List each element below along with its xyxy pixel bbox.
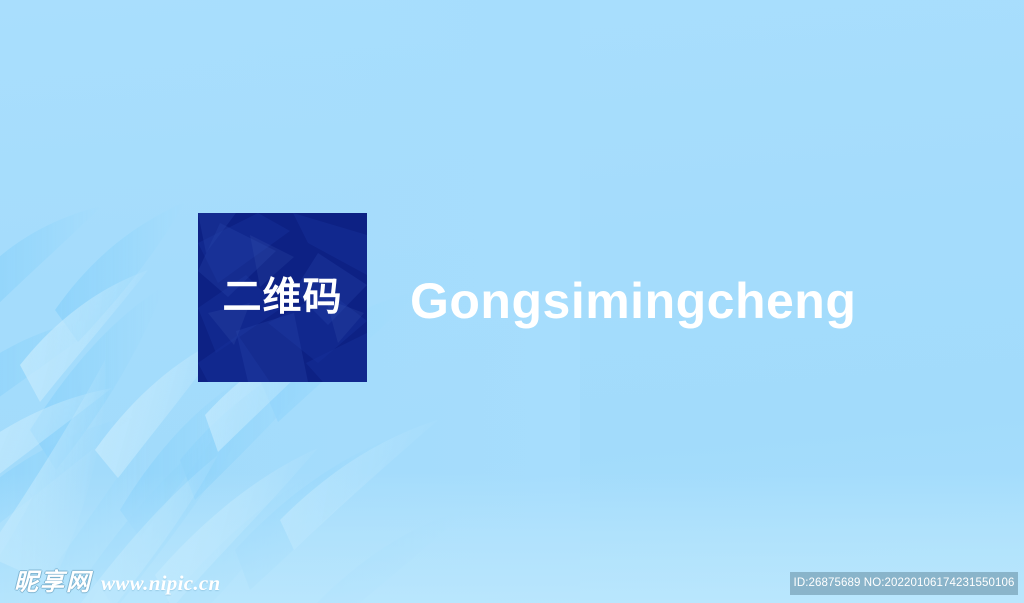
company-name-title: Gongsimingcheng xyxy=(410,272,856,330)
image-id-badge: ID:26875689 NO:20220106174231550106 xyxy=(790,572,1018,595)
qr-code-logo-square[interactable]: 二维码 xyxy=(198,213,367,382)
business-card-canvas: 二维码 Gongsimingcheng 昵享网 www.nipic.cn ID:… xyxy=(0,0,1024,603)
qr-code-logo-label: 二维码 xyxy=(222,278,342,317)
